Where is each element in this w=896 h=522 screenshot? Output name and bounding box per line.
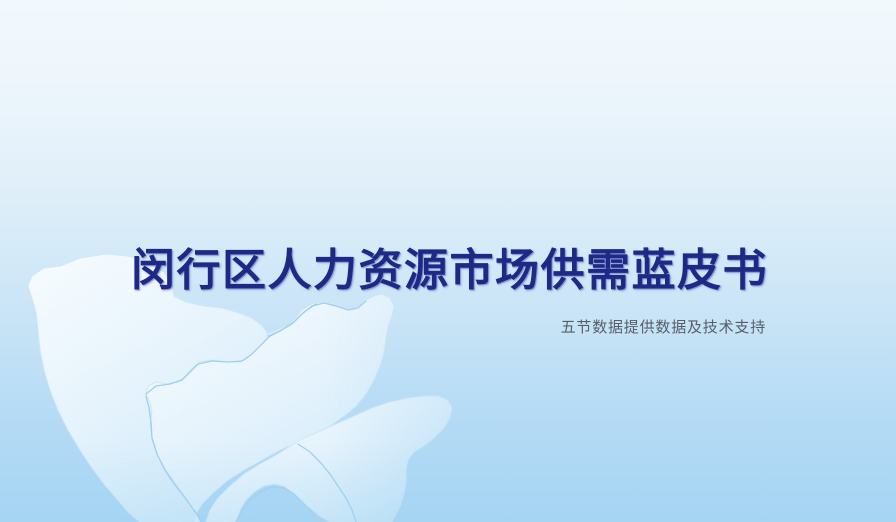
page-subtitle: 五节数据提供数据及技术支持: [0, 295, 768, 338]
title-block: 闵行区人力资源市场供需蓝皮书 五节数据提供数据及技术支持: [0, 246, 768, 338]
page-title: 闵行区人力资源市场供需蓝皮书: [0, 246, 768, 295]
map-boundary-east: [298, 444, 356, 522]
map-boundary-central: [146, 396, 201, 522]
map-boundary-southeast: [236, 487, 316, 522]
cover-slide: 闵行区人力资源市场供需蓝皮书 五节数据提供数据及技术支持: [0, 0, 896, 522]
map-region-east-wing: [206, 396, 452, 522]
